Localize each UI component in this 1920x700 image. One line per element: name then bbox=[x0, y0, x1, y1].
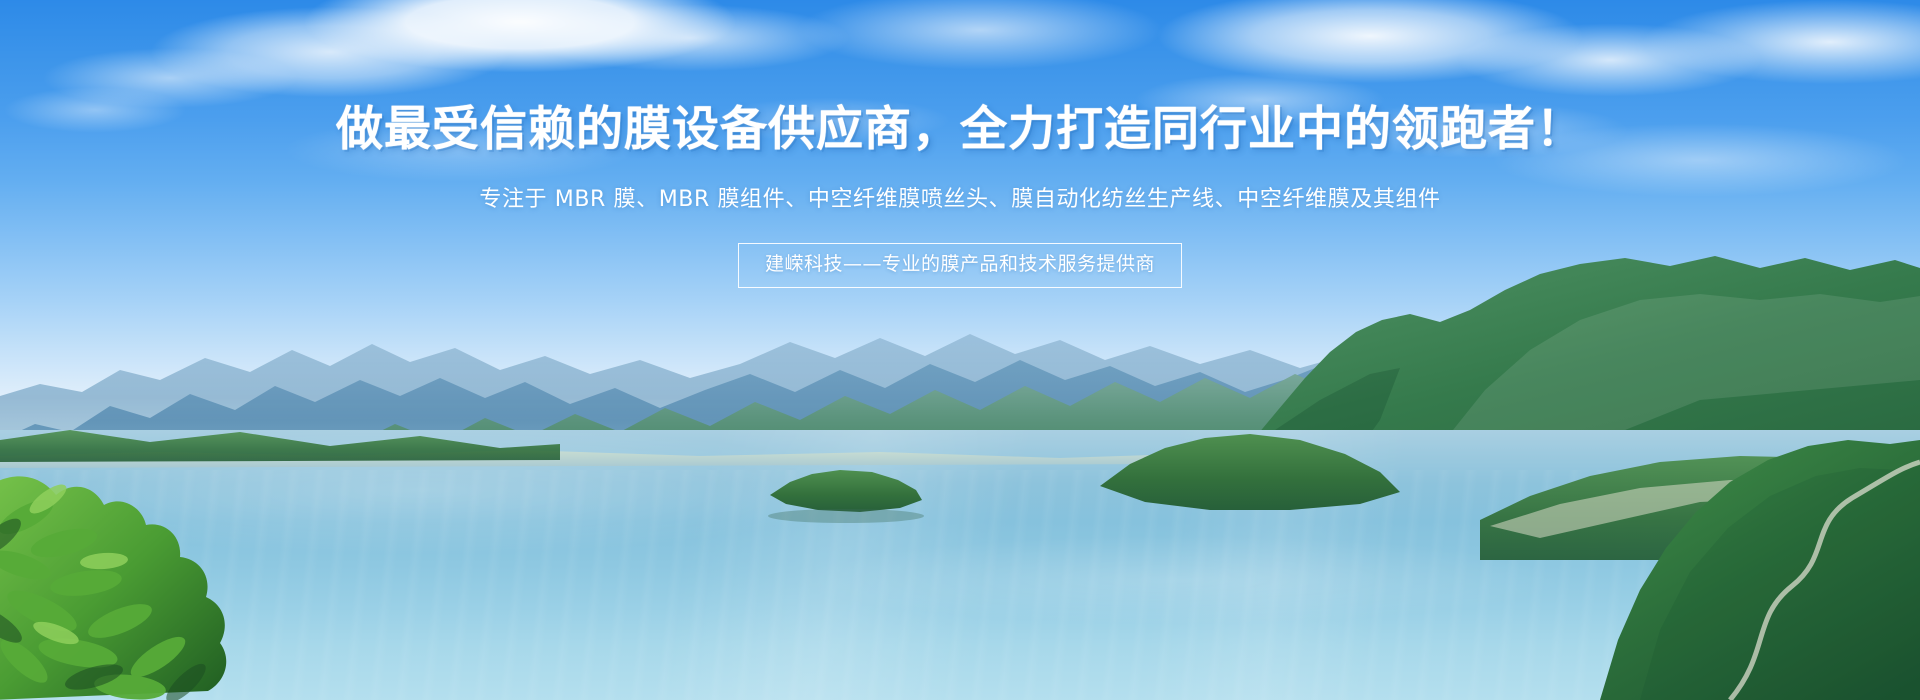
banner-headline: 做最受信赖的膜设备供应商，全力打造同行业中的领跑者！ bbox=[0, 104, 1920, 156]
banner-tagline-box: 建嵘科技——专业的膜产品和技术服务提供商 bbox=[738, 243, 1182, 288]
banner-tagline-text: 建嵘科技——专业的膜产品和技术服务提供商 bbox=[765, 253, 1155, 276]
hero-banner: 做最受信赖的膜设备供应商，全力打造同行业中的领跑者！ 专注于 MBR 膜、MBR… bbox=[0, 0, 1920, 700]
foreground-forest-right-icon bbox=[1300, 300, 1920, 700]
banner-subheadline: 专注于 MBR 膜、MBR 膜组件、中空纤维膜喷丝头、膜自动化纺丝生产线、中空纤… bbox=[0, 185, 1920, 216]
foreground-foliage-left-icon bbox=[0, 425, 250, 700]
